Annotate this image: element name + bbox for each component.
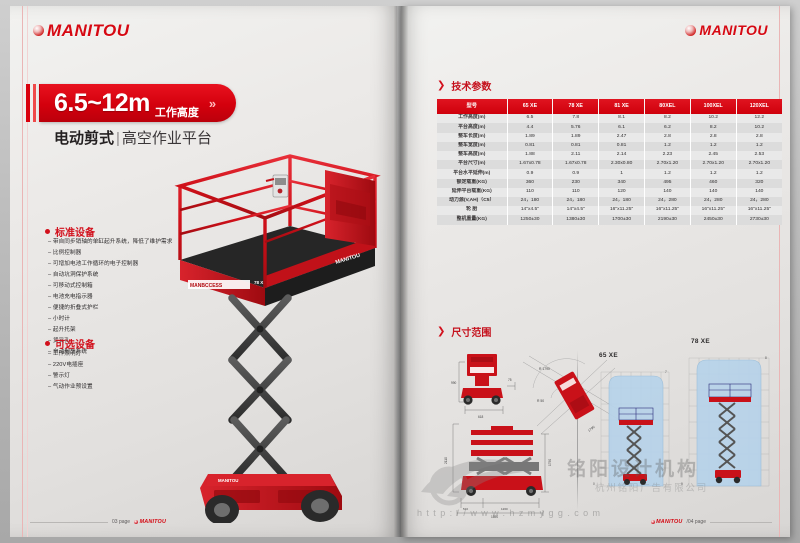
table-cell: 24，180 [507,197,553,206]
table-cell: 340 [599,179,645,188]
table-row: 轮 胎14"x4.5"14"x4.5"16"x11.25"16"x11.25"1… [437,206,782,215]
svg-text:1890: 1890 [491,515,498,518]
section-heading-specs: ❯ 技术参数 [437,78,491,93]
table-cell: 2.30x0.80 [599,160,645,169]
table-cell: 2.53 [736,151,782,160]
table-cell: 1700±30 [599,215,645,224]
table-header-cell: 120XEL [736,99,782,114]
standard-equipment-item: 可移动式控制箱 [48,284,172,290]
table-cell: 1.2 [736,169,782,178]
table-cell: 24，280 [644,197,690,206]
table-cell: 8.1 [599,114,645,123]
table-cell: 2.8 [736,133,782,142]
table-cell: 6.2 [644,123,690,132]
table-cell: 495 [644,179,690,188]
table-row-label: 整车高度(m) [437,151,507,160]
table-header-cell: 80XEL [644,99,690,114]
table-cell: 320 [736,179,782,188]
specifications-table: 型号65 XE78 XE81 XE80XEL100XEL120XEL 工作高度(… [437,99,782,225]
manitou-logo-icon [685,25,696,36]
table-row-label: 整机重量(KG) [437,215,507,224]
table-cell: 2190±30 [644,215,690,224]
page-number-right: /04 page [687,519,706,525]
table-row-label: 工作高度(m) [437,114,507,123]
table-cell: 1.2 [644,169,690,178]
table-row: 平台尺寸(m)1.67x0.781.67x0.782.30x0.802.70x1… [437,160,782,169]
table-cell: 1380±30 [553,215,599,224]
table-cell: 1.89 [553,133,599,142]
footer-rule [710,522,772,523]
svg-text:MANITOU: MANITOU [218,478,238,483]
table-cell: 14"x4.5" [553,206,599,215]
bullet-dot-icon [45,229,50,234]
optional-equipment-list: 工作照明灯220V电插座警示灯气动作业预设置 [48,352,93,396]
table-row-label: 平台尺寸(m) [437,160,507,169]
manitou-logo-icon [33,25,44,36]
chevron-right-icon: ❯ [437,326,445,337]
page-edge-hairline [22,6,23,537]
table-cell: 16"x11.25" [690,206,736,215]
table-cell: 140 [736,188,782,197]
standard-equipment-item: 可增加电池工作循环的电子控制器 [48,262,172,268]
table-row: 平台水平延伸(m)0.90.911.21.21.2 [437,169,782,178]
table-row-label: 延伸平台载重(KG) [437,188,507,197]
svg-text:R 1790: R 1790 [539,367,550,371]
table-cell: 24，180 [553,197,599,206]
standard-equipment-item: 自动坑洞保护系统 [48,273,172,279]
table-row: 工作高度(m)6.57.88.18.210.212.2 [437,114,782,123]
svg-text:2110: 2110 [444,457,448,464]
table-header-cell: 型号 [437,99,507,114]
table-cell: 2.70x1.20 [736,160,782,169]
range-chart-65xe-title: 65 XE [599,352,618,359]
subtitle-rest: 高空作业平台 [122,130,212,147]
range-chart-78xe-title: 78 XE [691,338,710,345]
working-height-label: 工作高度 [155,108,199,119]
table-cell: 1.2 [644,142,690,151]
footer-right: MANITOU /04 page [651,519,772,525]
subtitle-bold: 电动剪式 [54,130,114,147]
table-row: 平台高度(m)4.45.766.16.28.210.2 [437,123,782,132]
table-cell: 24，280 [690,197,736,206]
table-cell: 1.2 [736,142,782,151]
footer-logo-text: MANITOU [140,519,166,525]
table-header-cell: 100XEL [690,99,736,114]
brochure-spread: MANITOU MANITOU 6.5~12m 工作高度 » 电动剪式|高空作业… [0,0,800,543]
table-cell: 7.8 [553,114,599,123]
table-cell: 1.2 [690,169,736,178]
svg-text:R 50: R 50 [537,399,544,403]
standard-equipment-item: 便捷的折叠式护栏 [48,306,172,312]
table-row: 整车高度(m)1.882.112.142.232.452.53 [437,151,782,160]
svg-text:1260: 1260 [501,507,508,511]
range-chart-78xe: 78 XE [685,352,771,500]
manitou-logo-icon [651,520,655,524]
table-cell: 1.67x0.78 [553,160,599,169]
table-header-row: 型号65 XE78 XE81 XE80XEL100XEL120XEL [437,99,782,114]
table-cell: 2.70x1.20 [644,160,690,169]
chevron-right-icon: ❯ [437,80,445,91]
svg-text:MANBCCESS: MANBCCESS [190,283,223,289]
table-row-label: 额定载重(KG) [437,179,507,188]
section-title-dims: 尺寸范围 [451,324,491,339]
svg-text:1790: 1790 [587,425,595,433]
table-header-cell: 78 XE [553,99,599,114]
table-cell: 24，280 [736,197,782,206]
footer-logo-text: MANITOU [656,519,682,525]
table-cell: 2.23 [644,151,690,160]
drawing-side-view: 2110 1790 510 1260 1890 [443,418,575,518]
table-cell: 2.14 [599,151,645,160]
manitou-logo-right: MANITOU [685,23,768,37]
working-height-range: 6.5~12m [54,91,150,116]
table-header-cell: 81 XE [599,99,645,114]
table-cell: 230 [553,179,599,188]
table-cell: 2.8 [644,133,690,142]
range-chart-65xe: 65 XE [597,366,671,500]
table-row-label: 动力源(V,AH)（C5） [437,197,507,206]
optional-equipment-item: 警示灯 [48,374,93,380]
table-cell: 12.2 [736,114,782,123]
table-cell: 120 [599,188,645,197]
table-cell: 1.67x0.78 [507,160,553,169]
optional-equipment-item: 220V电插座 [48,363,93,369]
table-cell: 2.45 [690,151,736,160]
footer-logo-right: MANITOU [651,519,683,525]
table-cell: 24，180 [599,197,645,206]
table-cell: 2450±30 [690,215,736,224]
table-cell: 2.70x1.20 [690,160,736,169]
table-row-label: 整车宽度(m) [437,142,507,151]
table-row-label: 轮 胎 [437,206,507,215]
table-row: 整车长度(m)1.891.892.472.82.82.8 [437,133,782,142]
table-cell: 1 [599,169,645,178]
table-cell: 0.81 [599,142,645,151]
table-cell: 6.5 [507,114,553,123]
manitou-logo-text: MANITOU [699,23,768,37]
table-cell: 8.2 [690,123,736,132]
standard-equipment-item: 小时计 [48,317,172,323]
table-cell: 4.4 [507,123,553,132]
table-cell: 5.76 [553,123,599,132]
table-cell: 0.9 [553,169,599,178]
optional-equipment-heading: 可选设备 [45,336,95,351]
page-subtitle: 电动剪式|高空作业平台 [54,127,212,148]
table-cell: 2.47 [599,133,645,142]
table-cell: 360 [507,179,553,188]
table-cell: 0.9 [507,169,553,178]
section-heading-dims: ❯ 尺寸范围 [437,324,491,339]
table-row-label: 整车长度(m) [437,133,507,142]
section-title-specs: 技术参数 [451,78,491,93]
table-cell: 0.81 [507,142,553,151]
title-banner: 6.5~12m 工作高度 » [40,84,236,122]
table-cell: 1.2 [690,142,736,151]
manitou-logo-left: MANITOU [33,22,130,39]
table-cell: 6.1 [599,123,645,132]
table-cell: 1.88 [507,151,553,160]
svg-text:1790: 1790 [548,459,552,466]
table-cell: 110 [553,188,599,197]
footer-left: 03 page MANITOU [30,519,166,525]
footer-rule [30,522,108,523]
page-number-left: 03 page [112,519,130,525]
product-photo-scissor-lift: MANBCCESS 78 XE MANIT [170,148,390,523]
table-cell: 110 [507,188,553,197]
table-row-label: 平台水平延伸(m) [437,169,507,178]
table-row: 动力源(V,AH)（C5）24，18024，18024，18024，28024，… [437,197,782,206]
table-header-cell: 65 XE [507,99,553,114]
table-cell: 460 [690,179,736,188]
table-cell: 0.81 [553,142,599,151]
table-cell: 2730±30 [736,215,782,224]
svg-text:990: 990 [451,381,457,385]
manitou-logo-text: MANITOU [47,22,130,39]
standard-equipment-item: 起升托架 [48,328,172,334]
subtitle-separator: | [116,130,120,147]
table-cell: 140 [690,188,736,197]
optional-equipment-title: 可选设备 [55,336,95,351]
table-cell: 16"x11.25" [599,206,645,215]
table-cell: 10.2 [690,114,736,123]
table-cell: 8.2 [644,114,690,123]
table-cell: 16"x11.25" [736,206,782,215]
standard-equipment-heading: 标准设备 [45,224,95,239]
table-cell: 2.11 [553,151,599,160]
table-cell: 16"x11.25" [644,206,690,215]
standard-equipment-item: 电池充电指示器 [48,295,172,301]
table-cell: 140 [644,188,690,197]
bullet-dot-icon [45,341,50,346]
standard-equipment-item: 比例控制器 [48,251,172,257]
table-row: 额定载重(KG)360230340495460320 [437,179,782,188]
chevron-double-icon: » [209,96,216,111]
table-body: 工作高度(m)6.57.88.18.210.212.2平台高度(m)4.45.7… [437,114,782,224]
manitou-logo-icon [134,520,138,524]
table-cell: 1.89 [507,133,553,142]
svg-text:510: 510 [463,507,468,511]
optional-equipment-item: 气动作业预设置 [48,385,93,391]
table-row: 延伸平台载重(KG)110110120140140140 [437,188,782,197]
footer-logo-left: MANITOU [134,519,166,525]
scissor-pivots [256,325,263,452]
standard-equipment-item: 带自同步销轴的单缸起升系统，降低了维护需求 [48,240,172,246]
table-cell: 10.2 [736,123,782,132]
table-cell: 1250±30 [507,215,553,224]
table-row-label: 平台高度(m) [437,123,507,132]
table-cell: 14"x4.5" [507,206,553,215]
standard-equipment-title: 标准设备 [55,224,95,239]
table-row: 整机重量(KG)1250±301380±301700±302190±302450… [437,215,782,224]
table-cell: 2.8 [690,133,736,142]
table-row: 整车宽度(m)0.810.810.811.21.21.2 [437,142,782,151]
optional-equipment-item: 工作照明灯 [48,352,93,358]
dimension-drawings-panel: 990 75 618 R 1790 R 50 1790 [437,344,782,519]
